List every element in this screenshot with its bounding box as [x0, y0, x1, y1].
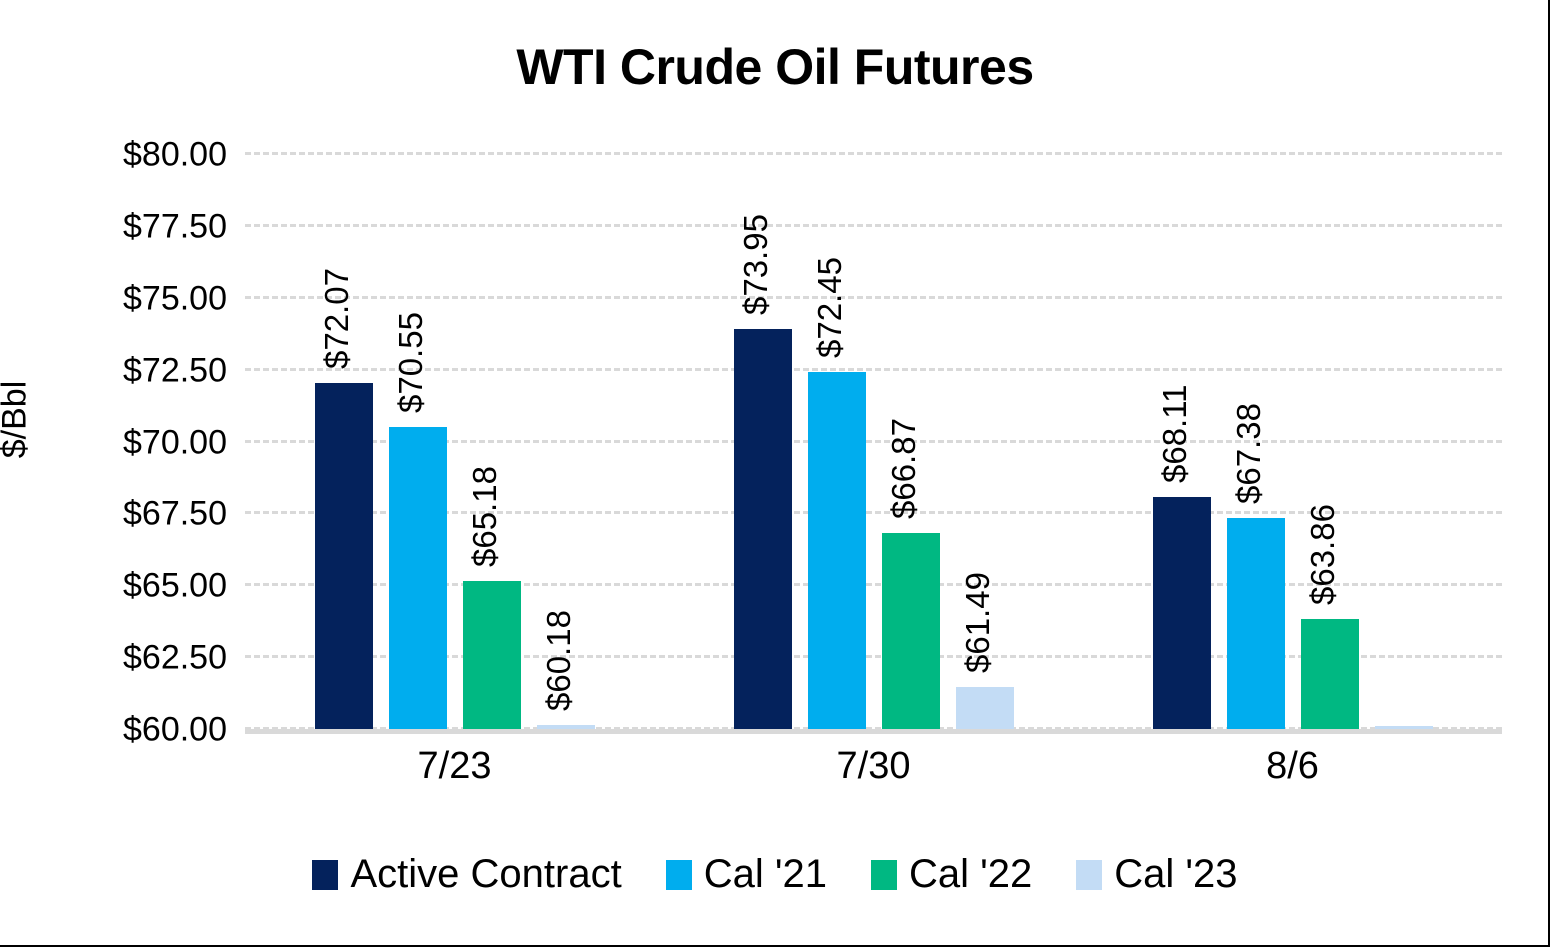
bar[interactable]: $63.86 [1301, 619, 1359, 730]
chart-figure: WTI Crude Oil Futures $/Bbl $80.00$77.50… [0, 0, 1550, 947]
x-axis-line [245, 729, 1502, 734]
bar[interactable]: $61.49 [956, 687, 1014, 730]
y-axis-tick-label: $62.50 [15, 639, 245, 678]
bar-value-label: $63.86 [1304, 504, 1342, 605]
gridline [245, 368, 1502, 371]
y-axis-tick-labels: $80.00$77.50$75.00$72.50$70.00$67.50$65.… [0, 155, 245, 730]
y-axis-tick-label: $80.00 [15, 136, 245, 175]
y-axis-tick-label: $72.50 [15, 351, 245, 390]
y-axis-tick-label: $75.00 [15, 279, 245, 318]
bar-value-label: $65.18 [466, 466, 504, 567]
plot-area: $72.07$70.55$65.18$60.18$73.95$72.45$66.… [245, 155, 1502, 730]
gridline [245, 152, 1502, 155]
y-axis-tick-label: $70.00 [15, 423, 245, 462]
bar-value-label: $72.45 [811, 257, 849, 358]
legend-item[interactable]: Cal '23 [1076, 852, 1237, 897]
legend-item[interactable]: Active Contract [312, 852, 621, 897]
gridline [245, 296, 1502, 299]
legend-label: Cal '23 [1114, 852, 1237, 897]
y-axis-tick-label: $77.50 [15, 207, 245, 246]
legend-item[interactable]: Cal '21 [666, 852, 827, 897]
bar-value-label: $66.87 [885, 418, 923, 519]
y-axis-tick-label: $67.50 [15, 495, 245, 534]
legend-label: Cal '22 [909, 852, 1032, 897]
page-title: WTI Crude Oil Futures [0, 38, 1550, 96]
x-axis-tick-label: 7/30 [837, 745, 911, 788]
bar-value-label: $70.55 [392, 312, 430, 413]
y-axis-tick-label: $60.00 [15, 711, 245, 750]
bar[interactable]: $72.45 [808, 372, 866, 730]
bar-value-label: $67.38 [1230, 403, 1268, 504]
gridline [245, 224, 1502, 227]
chart-legend: Active ContractCal '21Cal '22Cal '23 [0, 852, 1550, 897]
y-axis-tick-label: $65.00 [15, 567, 245, 606]
bar-value-label: $72.07 [318, 268, 356, 369]
bar-value-label: $60.18 [540, 610, 578, 711]
bar-value-label: $68.11 [1156, 384, 1194, 482]
bar[interactable]: $72.07 [315, 383, 373, 730]
bar-value-label: $73.95 [737, 214, 775, 315]
bar[interactable]: $70.55 [389, 427, 447, 730]
legend-swatch-icon [871, 860, 897, 890]
legend-label: Active Contract [350, 852, 621, 897]
legend-item[interactable]: Cal '22 [871, 852, 1032, 897]
x-axis-tick-label: 8/6 [1266, 745, 1319, 788]
bar[interactable]: $67.38 [1227, 518, 1285, 730]
legend-label: Cal '21 [704, 852, 827, 897]
bar[interactable]: $68.11 [1153, 497, 1211, 730]
x-axis-tick-label: 7/23 [418, 745, 492, 788]
bar[interactable]: $66.87 [882, 533, 940, 731]
bar[interactable]: $73.95 [734, 329, 792, 730]
legend-swatch-icon [312, 860, 338, 890]
x-axis-tick-labels: 7/237/308/6 [245, 745, 1502, 805]
bar[interactable]: $65.18 [463, 581, 521, 730]
legend-swatch-icon [1076, 860, 1102, 890]
bar-value-label: $61.49 [959, 572, 997, 673]
legend-swatch-icon [666, 860, 692, 890]
